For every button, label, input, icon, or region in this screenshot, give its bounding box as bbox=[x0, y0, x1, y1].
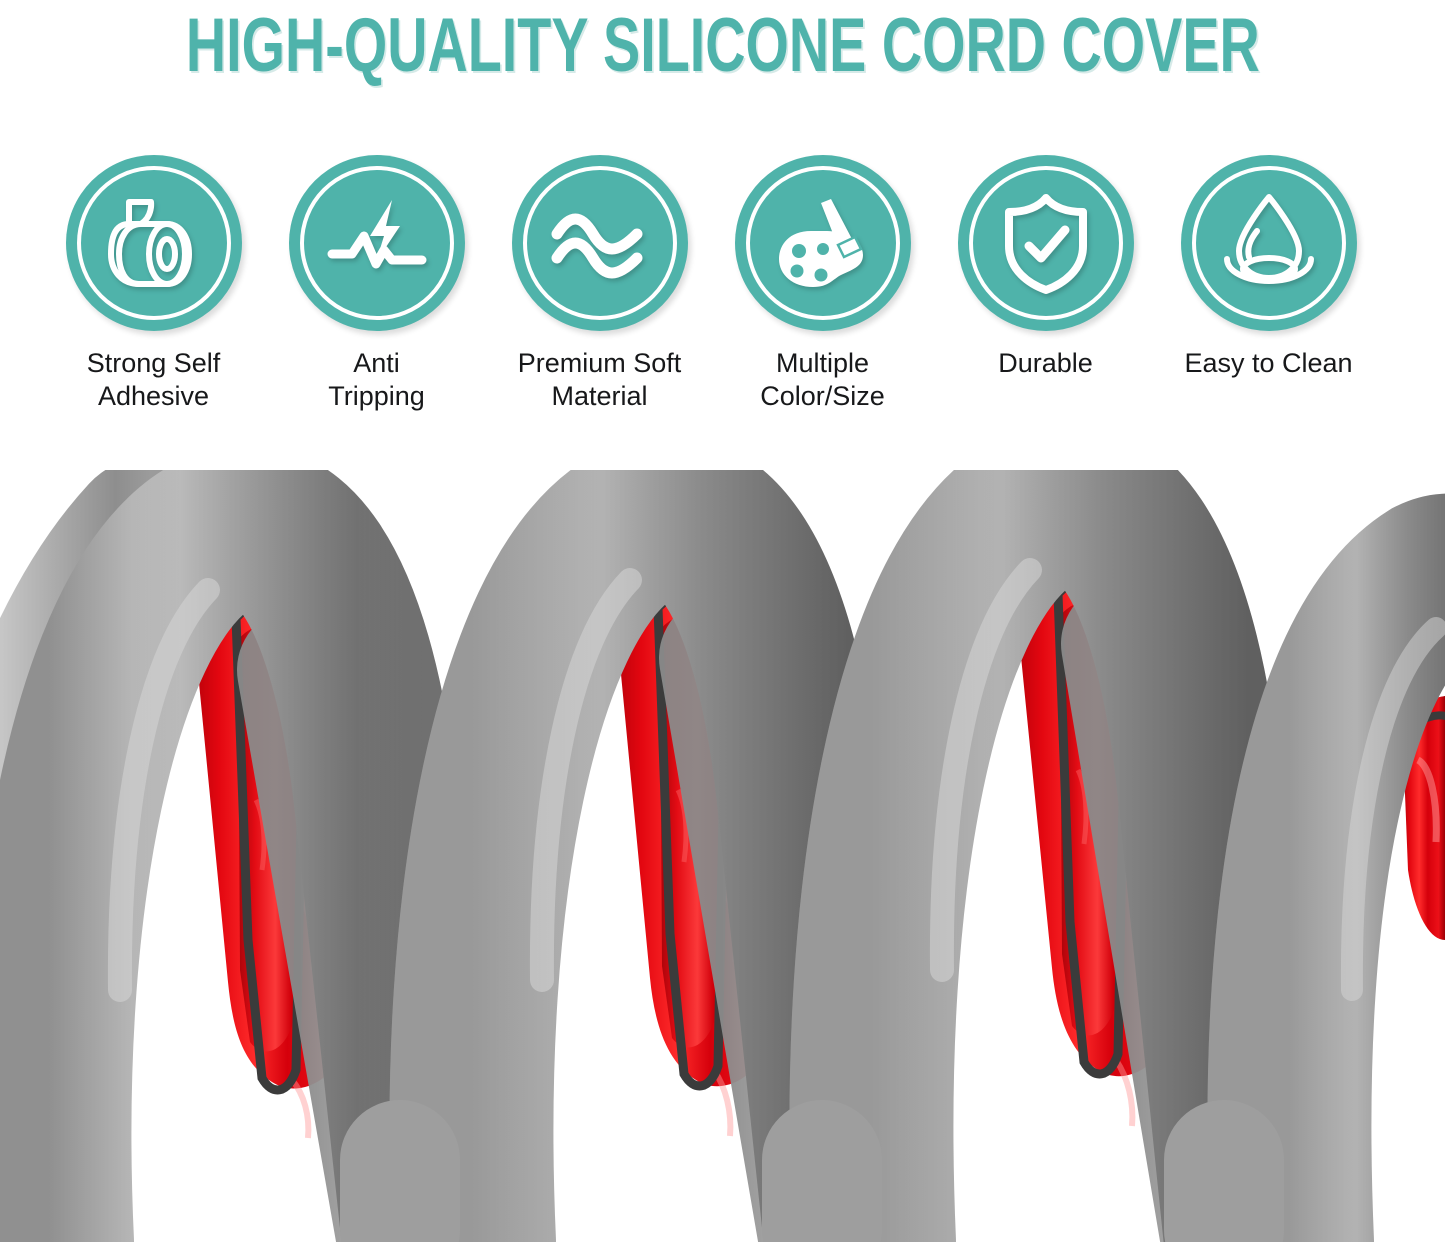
feature-badge-3 bbox=[512, 155, 688, 331]
feature-badge-2 bbox=[289, 155, 465, 331]
paint-palette-brush-icon bbox=[767, 187, 879, 299]
wavy-lines-icon bbox=[545, 188, 655, 298]
feature-label-2: Anti Tripping bbox=[328, 347, 425, 413]
feature-label-5: Durable bbox=[998, 347, 1093, 380]
feature-label-3: Premium Soft Material bbox=[518, 347, 682, 413]
water-droplet-ripple-icon bbox=[1213, 187, 1325, 299]
feature-item-multiple-color-size[interactable]: Multiple Color/Size bbox=[711, 155, 934, 413]
silicone-cord-cover-coil-illustration bbox=[0, 470, 1445, 1242]
feature-badge-6 bbox=[1181, 155, 1357, 331]
feature-item-easy-to-clean[interactable]: Easy to Clean bbox=[1157, 155, 1380, 380]
feature-label-1: Strong Self Adhesive bbox=[87, 347, 221, 413]
feature-badge-5 bbox=[958, 155, 1134, 331]
feature-badge-4 bbox=[735, 155, 911, 331]
feature-label-6: Easy to Clean bbox=[1184, 347, 1352, 380]
feature-label-4: Multiple Color/Size bbox=[760, 347, 885, 413]
feature-item-strong-self-adhesive[interactable]: Strong Self Adhesive bbox=[42, 155, 265, 413]
adhesive-tape-roll-icon bbox=[99, 188, 209, 298]
product-image bbox=[0, 470, 1445, 1242]
page-title: HIGH-QUALITY SILICONE CORD COVER bbox=[186, 7, 1260, 83]
lightning-pulse-icon bbox=[322, 188, 432, 298]
feature-list: Strong Self Adhesive Anti Tripping Premi… bbox=[0, 155, 1445, 425]
feature-badge-1 bbox=[66, 155, 242, 331]
feature-item-anti-tripping[interactable]: Anti Tripping bbox=[265, 155, 488, 413]
page-title-bar: HIGH-QUALITY SILICONE CORD COVER bbox=[0, 0, 1445, 90]
feature-item-durable[interactable]: Durable bbox=[934, 155, 1157, 380]
feature-item-premium-soft-material[interactable]: Premium Soft Material bbox=[488, 155, 711, 413]
shield-check-icon bbox=[991, 188, 1101, 298]
